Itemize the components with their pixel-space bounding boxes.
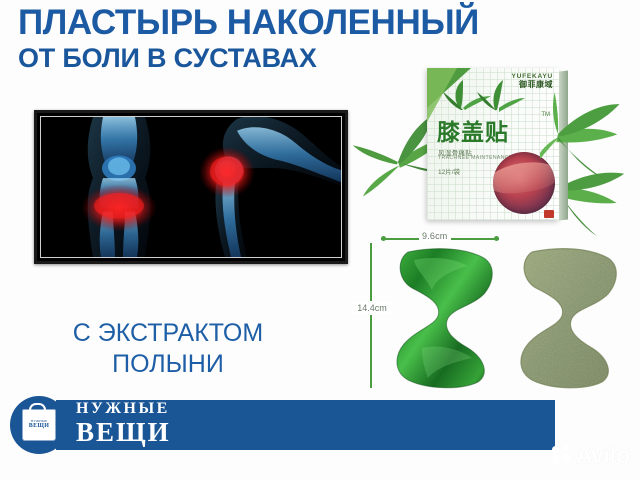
- xray-knee-image: [34, 110, 348, 264]
- xray-illustration: [41, 117, 341, 257]
- brand-name-block: НУЖНЫЕ ВЕЩИ: [76, 399, 171, 446]
- dimension-width-dot-right: [494, 236, 499, 241]
- dimension-width: 9.6cm: [381, 234, 499, 244]
- dimension-width-label: 9.6cm: [419, 231, 451, 241]
- patch-foil-green: [392, 248, 500, 390]
- mugwort-leaf-front: [540, 88, 640, 200]
- brand-logo: НУЖНЫЕ ВЕЩИ: [10, 396, 68, 454]
- dimension-height-label: 14.4cm: [352, 301, 392, 315]
- box-product-title: 膝盖贴: [437, 120, 509, 145]
- avito-watermark: Avito: [552, 442, 630, 468]
- shopping-bag-label-bottom: ВЕЩИ: [28, 424, 50, 429]
- shopping-bag-label: НУЖНЫЕ ВЕЩИ: [28, 419, 50, 429]
- xray-inner-frame: [40, 116, 342, 258]
- brand-name-line-1: НУЖНЫЕ: [76, 399, 171, 418]
- patch-fabric-olive: [516, 248, 624, 390]
- box-quantity-label: 12片/袋: [438, 166, 460, 176]
- brand-name-line-2: ВЕЩИ: [76, 418, 171, 446]
- headline-block: ПЛАСТЫРЬ НАКОЛЕННЫЙ ОТ БОЛИ В СУСТАВАХ: [18, 4, 578, 73]
- dimension-height-line: [370, 243, 372, 388]
- headline-line-2: ОТ БОЛИ В СУСТАВАХ: [18, 43, 578, 73]
- shopping-bag-icon: НУЖНЫЕ ВЕЩИ: [23, 410, 55, 440]
- dimension-width-dot-left: [381, 236, 386, 241]
- extract-caption-line-1: С ЭКСТРАКТОМ: [8, 318, 328, 349]
- box-herb-illustration: [441, 74, 525, 118]
- extract-caption: С ЭКСТРАКТОМ ПОЛЫНИ: [8, 318, 328, 380]
- extract-caption-line-2: ПОЛЫНИ: [8, 349, 328, 380]
- box-seal-badge: [544, 210, 554, 218]
- advertisement-canvas: ПЛАСТЫРЬ НАКОЛЕННЫЙ ОТ БОЛИ В СУСТАВАХ: [0, 0, 640, 480]
- headline-line-1: ПЛАСТЫРЬ НАКОЛЕННЫЙ: [18, 4, 578, 42]
- avito-dots-icon: [552, 445, 572, 465]
- dimension-height: 14.4cm: [366, 243, 376, 388]
- avito-wordmark: Avito: [576, 444, 630, 467]
